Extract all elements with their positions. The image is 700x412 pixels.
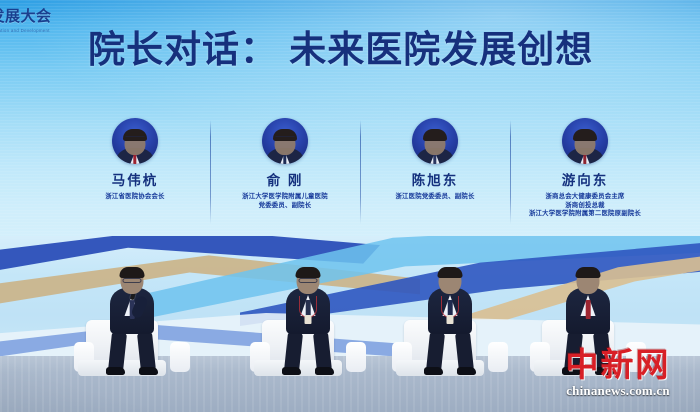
panelist-title-line: 浙江大学医学院附属儿童医院 bbox=[242, 193, 328, 202]
panelist-name: 游向东 bbox=[562, 173, 609, 188]
avatar-glasses-icon bbox=[126, 136, 145, 141]
speaker-legs bbox=[106, 330, 158, 372]
avatar-hair bbox=[573, 129, 597, 141]
panelist-title-list: 浙江医院党委委员、副院长 bbox=[395, 193, 474, 202]
panelist-avatar bbox=[562, 118, 608, 164]
panelist-title-list: 浙江大学医学院附属儿童医院 党委委员、副院长 bbox=[242, 193, 328, 210]
speaker-hair bbox=[438, 267, 463, 278]
shoe-left bbox=[424, 367, 443, 375]
panelist-title-line: 浙江医院党委委员、副院长 bbox=[395, 193, 474, 202]
speaker-torso bbox=[428, 288, 472, 334]
panelist-card-list: 马伟杭 浙江省医院协会会长 俞 刚 浙江大学医学院附属儿童医院 党委委员 bbox=[60, 118, 660, 242]
speaker-tie bbox=[586, 300, 591, 319]
conference-logo-en: ...for Innovation and Development bbox=[0, 28, 68, 33]
shoe-right bbox=[315, 367, 334, 375]
speaker-hair bbox=[296, 267, 321, 278]
panelist-avatar bbox=[412, 118, 458, 164]
conference-logo-cn: 新发展大会 bbox=[0, 8, 68, 26]
badge-card bbox=[447, 315, 454, 324]
shoe-right bbox=[457, 367, 476, 375]
watermark: 中新网 chinanews.com.cn bbox=[548, 349, 688, 398]
speaker-hair bbox=[576, 267, 601, 278]
led-screen: 新发展大会 ...for Innovation and Development … bbox=[0, 0, 700, 268]
panelist-avatar bbox=[262, 118, 308, 164]
panelist-avatar bbox=[112, 118, 158, 164]
chair-arm-right bbox=[488, 342, 508, 372]
avatar-glasses-icon bbox=[276, 136, 295, 141]
seated-speaker bbox=[248, 268, 368, 378]
conference-photo: 新发展大会 ...for Innovation and Development … bbox=[0, 0, 700, 412]
speaker-legs bbox=[424, 330, 476, 372]
badge-card bbox=[305, 315, 312, 324]
speaker-legs bbox=[282, 330, 334, 372]
session-title: 院长对话： 未来医院发展创想 bbox=[88, 26, 668, 74]
speaker-hair bbox=[120, 267, 145, 278]
avatar-hair bbox=[423, 129, 447, 141]
panelist-title-line: 浙江省医院协会会长 bbox=[105, 193, 164, 202]
panelist-name: 俞 刚 bbox=[267, 173, 304, 188]
panelist-title-list: 浙江省医院协会会长 bbox=[105, 193, 164, 202]
panelist-title-line: 浙商总会大健康委员会主席 bbox=[529, 193, 641, 202]
panelist-title-line: 浙商创投总裁 bbox=[529, 202, 641, 211]
panelist-card: 游向东 浙商总会大健康委员会主席 浙商创投总裁 浙江大学医学院附属第二医院原副院… bbox=[510, 118, 660, 242]
glasses-icon bbox=[299, 278, 318, 283]
speaker-torso bbox=[566, 288, 610, 334]
panelist-name: 陈旭东 bbox=[412, 173, 459, 188]
conference-logo: 新发展大会 ...for Innovation and Development bbox=[0, 8, 68, 52]
shoe-left bbox=[282, 367, 301, 375]
seated-speaker bbox=[390, 268, 510, 378]
glasses-icon bbox=[123, 278, 142, 283]
seated-speaker bbox=[72, 268, 192, 378]
panelist-card: 陈旭东 浙江医院党委委员、副院长 bbox=[360, 118, 510, 242]
panelist-name: 马伟杭 bbox=[112, 173, 159, 188]
chair-arm-right bbox=[346, 342, 366, 372]
watermark-url: chinanews.com.cn bbox=[548, 384, 688, 398]
chair-arm-right bbox=[170, 342, 190, 372]
panelist-title-line: 浙江大学医学院附属第二医院原副院长 bbox=[529, 210, 641, 219]
watermark-cn: 中新网 bbox=[548, 349, 688, 383]
speaker-torso bbox=[286, 288, 330, 334]
panelist-card: 俞 刚 浙江大学医学院附属儿童医院 党委委员、副院长 bbox=[210, 118, 360, 242]
shoe-left bbox=[106, 367, 125, 375]
panelist-title-line: 党委委员、副院长 bbox=[242, 202, 328, 211]
panelist-card: 马伟杭 浙江省医院协会会长 bbox=[60, 118, 210, 242]
panelist-title-list: 浙商总会大健康委员会主席 浙商创投总裁 浙江大学医学院附属第二医院原副院长 bbox=[529, 193, 641, 219]
shoe-right bbox=[139, 367, 158, 375]
